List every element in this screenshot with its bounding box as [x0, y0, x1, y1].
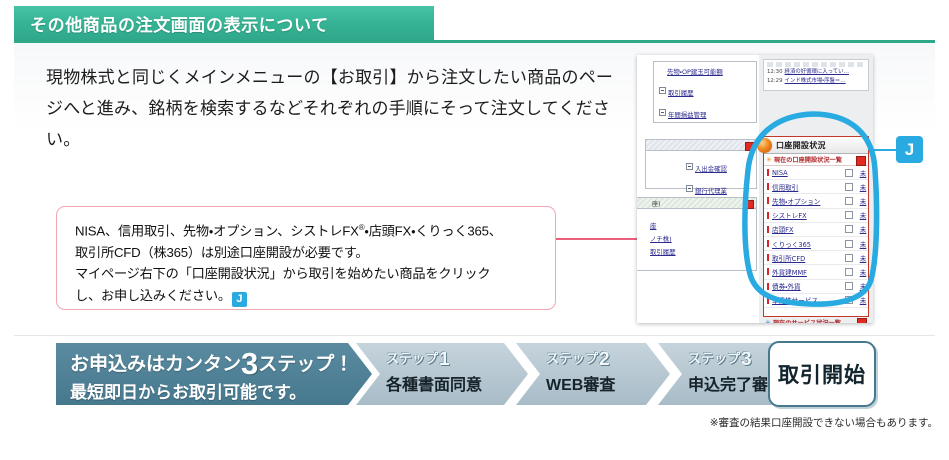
badge-j-callout: J	[896, 136, 923, 163]
app-screenshot: 先物・OP建玉可能額 取引履歴 年間損益管理 入出金確認 銀行代理業 座) 座 …	[637, 55, 873, 323]
row-checkbox[interactable]	[845, 183, 853, 191]
mini-card-title: 座)	[652, 199, 660, 208]
account-status-subtitle-row: ✳ 現在の口座開設状況一覧	[764, 154, 868, 166]
account-status-value[interactable]: 未	[858, 224, 868, 234]
row-marker-icon	[767, 226, 769, 233]
account-status-value[interactable]: 未	[858, 210, 868, 220]
account-product-link[interactable]: 信用取引	[772, 182, 845, 192]
row-marker-icon	[767, 297, 769, 304]
account-product-link[interactable]: 単元株サービス	[772, 295, 845, 305]
steps-lead-number: 3	[241, 346, 258, 381]
steps-lead-pre: お申込みはカンタン	[70, 354, 241, 375]
account-status-row[interactable]: 先物・オプション未	[764, 194, 868, 208]
asterisk-icon: ✳	[766, 156, 772, 164]
account-status-value[interactable]: 未	[858, 253, 868, 263]
step-2-label: ステップ2	[546, 348, 610, 371]
mini-link-account-c[interactable]: 取引履歴	[650, 247, 752, 257]
news-item[interactable]: 12:30経済の好循環に入ってい…	[767, 68, 865, 77]
account-status-subtitle: 現在の口座開設状況一覧	[774, 155, 842, 164]
start-trading-button[interactable]: 取引開始	[768, 341, 876, 407]
account-status-row[interactable]: NISA未	[764, 166, 868, 180]
row-checkbox[interactable]	[845, 211, 853, 219]
news-headline[interactable]: 経済の好循環に入ってい…	[785, 69, 849, 75]
step-1-word: ステップ	[386, 351, 438, 366]
account-product-link[interactable]: くりっく365	[772, 239, 845, 249]
notice-line1-a: NISA、信用取引、先物・オプション、シストレFX	[75, 223, 359, 238]
account-status-row[interactable]: シストレFX未	[764, 209, 868, 223]
news-item[interactable]: 12:29インド株式市場・序盤＝…	[767, 77, 865, 86]
account-status-row[interactable]: くりっく365未	[764, 237, 868, 251]
step-3-number: 3	[741, 349, 752, 370]
mini-link-account-a[interactable]: 座	[650, 221, 752, 231]
notice-callout-box: NISA、信用取引、先物・オプション、シストレFX®・店頭FX・くりっく365、…	[56, 206, 556, 310]
close-icon[interactable]	[745, 200, 754, 209]
bullet-icon	[659, 109, 666, 116]
step-chevron-2: ステップ2 WEB審査	[516, 343, 670, 405]
row-checkbox[interactable]	[845, 240, 853, 248]
mini-link-account-b[interactable]: ノチ株)	[650, 234, 752, 244]
notice-line3: マイページ右下の「口座開設状況」から取引を始めたい商品をクリック	[75, 266, 490, 281]
step-3-word: ステップ	[688, 351, 740, 366]
mini-link-futures-margin[interactable]: 先物・OP建玉可能額	[667, 67, 752, 77]
account-status-panel: 口座開設状況 ✳ 現在の口座開設状況一覧 NISA未信用取引未先物・オプション未…	[763, 136, 869, 317]
row-checkbox[interactable]	[845, 296, 853, 304]
step-3-label: ステップ3	[688, 348, 752, 371]
mini-card-titlebar	[646, 140, 756, 151]
collapse-icon[interactable]	[857, 318, 867, 323]
badge-j-inline: J	[232, 292, 247, 307]
account-product-link[interactable]: シストレFX	[772, 210, 845, 220]
account-status-value[interactable]: 未	[858, 196, 868, 206]
bullet-icon	[686, 185, 693, 192]
account-status-value[interactable]: 未	[858, 182, 868, 192]
page-root: その他商品の注文画面の表示について 現物株式と同じくメインメニューの【お取引】か…	[0, 0, 949, 460]
account-product-link[interactable]: 外貨建MMF	[772, 267, 845, 277]
section-header: その他商品の注文画面の表示について	[14, 6, 434, 40]
news-headline[interactable]: インド株式市場・序盤＝…	[785, 78, 846, 84]
panel-orb-icon	[757, 138, 772, 153]
account-product-link[interactable]: 債券・外貨	[772, 281, 845, 291]
mini-link-trade-history[interactable]: 取引履歴	[668, 89, 694, 97]
row-marker-icon	[767, 254, 769, 261]
account-status-value[interactable]: 未	[858, 267, 868, 277]
bullet-icon	[686, 163, 693, 170]
account-status-value[interactable]: 未	[858, 281, 868, 291]
row-checkbox[interactable]	[845, 254, 853, 262]
steps-strip: お申込みはカンタン3ステップ！ 最短即日からお取引可能です。 ステップ1 各種書…	[56, 343, 896, 405]
account-status-row[interactable]: 外貨建MMF未	[764, 265, 868, 279]
step-1-description: 各種書面同意	[386, 371, 482, 395]
step-2-description: WEB審査	[546, 371, 615, 395]
account-status-value[interactable]: 未	[858, 239, 868, 249]
news-placeholder-row	[767, 62, 865, 67]
notice-line4: し、お申し込みください。	[75, 288, 231, 303]
row-checkbox[interactable]	[845, 169, 853, 177]
account-status-row[interactable]: 単元株サービス未	[764, 294, 868, 308]
j-tag-leader-line	[872, 149, 897, 151]
close-icon[interactable]	[745, 142, 754, 151]
account-product-link[interactable]: 店頭FX	[772, 224, 845, 234]
account-status-title: 口座開設状況	[776, 140, 826, 151]
account-status-row[interactable]: 信用取引未	[764, 180, 868, 194]
step-chevron-1: ステップ1 各種書面同意	[356, 343, 528, 405]
mini-card-titlebar: 座)	[637, 198, 756, 209]
bullet-icon	[659, 87, 666, 94]
steps-lead-banner: お申込みはカンタン3ステップ！ 最短即日からお取引可能です。	[56, 343, 372, 405]
mini-card-cash-menu: 入出金確認 銀行代理業	[645, 139, 757, 189]
row-marker-icon	[767, 169, 769, 176]
asterisk-icon: ✳	[765, 319, 771, 324]
row-marker-icon	[767, 268, 769, 275]
step-2-number: 2	[599, 349, 610, 370]
account-product-link[interactable]: 先物・オプション	[772, 196, 845, 206]
news-time: 12:30	[767, 69, 783, 75]
news-panel: 12:30経済の好循環に入ってい… 12:29インド株式市場・序盤＝…	[763, 59, 869, 91]
row-marker-icon	[767, 283, 769, 290]
notice-line2: 取引所CFD（株365）は別途口座開設が必要です。	[75, 245, 368, 260]
mini-card-account-menu: 座) 座 ノチ株) 取引履歴	[637, 197, 757, 271]
row-marker-icon	[767, 183, 769, 190]
steps-lead-line1: お申込みはカンタン3ステップ！	[70, 349, 353, 376]
account-status-row[interactable]: 債券・外貨未	[764, 280, 868, 294]
account-status-value[interactable]: 未	[858, 295, 868, 305]
lead-paragraph: 現物株式と同じくメインメニューの【お取引】から注文したい商品のページへと進み、銘…	[46, 62, 626, 155]
mini-link-annual-pl[interactable]: 年間損益管理	[668, 111, 706, 119]
row-marker-icon	[767, 212, 769, 219]
steps-footnote: ※審査の結果口座開設できない場合もあります。	[672, 415, 938, 430]
notice-callout-text: NISA、信用取引、先物・オプション、シストレFX®・店頭FX・くりっく365、…	[75, 217, 551, 307]
row-checkbox[interactable]	[845, 225, 853, 233]
step-2-word: ステップ	[546, 351, 598, 366]
step-1-number: 1	[439, 349, 450, 370]
row-marker-icon	[767, 240, 769, 247]
page-title: その他商品の注文画面の表示について	[14, 11, 329, 36]
row-checkbox[interactable]	[845, 268, 853, 276]
steps-lead-line2: 最短即日からお取引可能です。	[70, 378, 306, 403]
account-status-row[interactable]: 取引所CFD未	[764, 251, 868, 265]
service-status-footer-row: ✳ 現在のサービス状況一覧	[763, 317, 869, 323]
step-1-label: ステップ1	[386, 348, 450, 371]
account-status-rows: NISA未信用取引未先物・オプション未シストレFX未店頭FX未くりっく365未取…	[764, 166, 868, 308]
row-checkbox[interactable]	[845, 197, 853, 205]
service-status-label: 現在のサービス状況一覧	[773, 318, 841, 323]
mini-link-deposit-check[interactable]: 入出金確認	[695, 165, 727, 173]
mini-link-bank-agency[interactable]: 銀行代理業	[695, 187, 727, 195]
collapse-icon[interactable]	[856, 156, 866, 166]
account-product-link[interactable]: NISA	[772, 169, 845, 177]
notice-line1-b: ・店頭FX・くりっく365、	[364, 223, 501, 238]
account-product-link[interactable]: 取引所CFD	[772, 253, 845, 263]
account-status-value[interactable]: 未	[858, 168, 868, 178]
mini-card-trade-menu: 先物・OP建玉可能額 取引履歴 年間損益管理	[653, 61, 757, 123]
row-checkbox[interactable]	[845, 282, 853, 290]
account-status-header: 口座開設状況	[764, 137, 868, 154]
row-marker-icon	[767, 197, 769, 204]
steps-lead-post: ステップ！	[258, 354, 353, 375]
news-time: 12:29	[767, 78, 783, 84]
account-status-row[interactable]: 店頭FX未	[764, 223, 868, 237]
start-trading-label: 取引開始	[778, 359, 866, 389]
